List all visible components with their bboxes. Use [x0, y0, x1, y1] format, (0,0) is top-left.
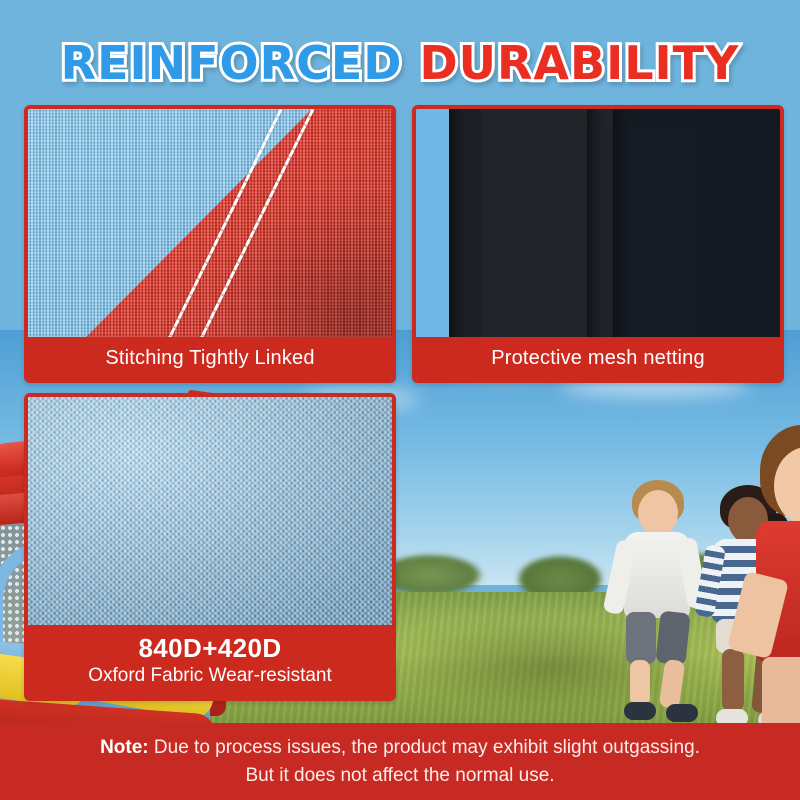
- panel-caption-text: Protective mesh netting: [491, 347, 705, 370]
- mesh-fold: [449, 109, 465, 337]
- mesh-fold: [587, 109, 603, 337]
- panel-caption-text: Stitching Tightly Linked: [105, 347, 314, 370]
- panel-caption: Stitching Tightly Linked: [28, 337, 392, 379]
- detail-panel-oxford-fabric: 840D+420D Oxford Fabric Wear-resistant: [24, 393, 396, 701]
- mesh-fold: [613, 109, 629, 337]
- footer-note: Note: Due to process issues, the product…: [0, 723, 800, 800]
- oxford-weave-texture: [28, 397, 392, 625]
- footer-note-line-2: But it does not affect the normal use.: [245, 762, 554, 790]
- panel-caption-subtext: Oxford Fabric Wear-resistant: [88, 664, 332, 688]
- title-word-durability: DURABILITY: [419, 36, 739, 90]
- detail-panel-stitching: Stitching Tightly Linked: [24, 105, 396, 383]
- oxford-fabric-image: [28, 397, 392, 625]
- running-child-foreground: [752, 425, 800, 730]
- panel-caption: 840D+420D Oxford Fabric Wear-resistant: [28, 625, 392, 697]
- mesh-netting-image: [416, 109, 780, 337]
- detail-panel-mesh: Protective mesh netting: [412, 105, 784, 383]
- panel-caption: Protective mesh netting: [416, 337, 780, 379]
- footer-note-line-1: Note: Due to process issues, the product…: [100, 734, 700, 762]
- footer-note-text-1: Due to process issues, the product may e…: [154, 737, 700, 758]
- blue-red-fabric-stitching-image: [28, 109, 392, 337]
- title-word-reinforced: REINFORCED: [61, 36, 403, 90]
- panel-caption-denier: 840D+420D: [138, 634, 281, 664]
- footer-note-label: Note:: [100, 737, 149, 758]
- page-title: REINFORCED DURABILITY: [0, 36, 800, 90]
